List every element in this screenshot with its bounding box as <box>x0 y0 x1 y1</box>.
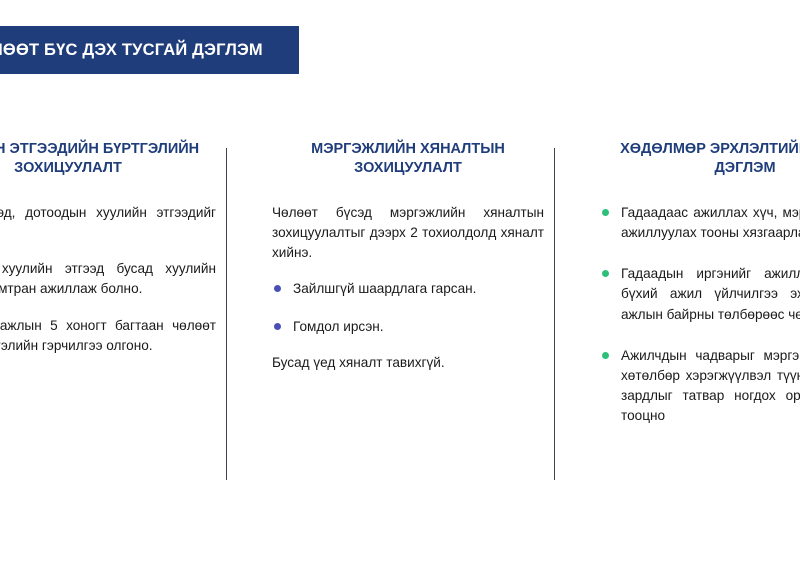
column-1-heading: ХУУЛИЙН ЭТГЭЭДИЙН БҮРТГЭЛИЙН ЗОХИЦУУЛАЛТ <box>0 140 216 177</box>
bullet-dot-icon <box>602 270 609 277</box>
slide-canvas: ХӨДӨЛМӨРИЙН ЧӨЛӨӨТ БҮС ДЭХ ТУСГАЙ ДЭГЛЭМ… <box>0 0 800 570</box>
column-2-bullet-list: Зайлшгүй шаардлага гарсан. Гомдол ирсэн. <box>272 279 544 336</box>
list-item: Гадаадын иргэнийг ажиллуулж орлого бүхий… <box>600 264 800 324</box>
column-entity-registration: ХУУЛИЙН ЭТГЭЭДИЙН БҮРТГЭЛИЙН ЗОХИЦУУЛАЛТ… <box>0 140 216 356</box>
column-2-closing-paragraph: Бусад үед хяналт тавихгүй. <box>272 353 544 373</box>
list-item-label: Зайлшгүй шаардлага гарсан. <box>293 281 476 296</box>
slide-title-banner: ХӨДӨЛМӨРИЙН ЧӨЛӨӨТ БҮС ДЭХ ТУСГАЙ ДЭГЛЭМ <box>0 26 299 74</box>
bullet-dot-icon <box>602 209 609 216</box>
column-employment-regime: ХӨДӨЛМӨР ЭРХЛЭЛТИЙН ТУСГАЙ ДЭГЛЭМ Гадаад… <box>600 140 800 447</box>
list-item: Ажилчдын чадварыг мэргэшүүлэх төсөл хөтө… <box>600 346 800 426</box>
bullet-dot-icon <box>274 323 281 330</box>
page-title: ХӨДӨЛМӨРИЙН ЧӨЛӨӨТ БҮС ДЭХ ТУСГАЙ ДЭГЛЭМ <box>0 41 263 59</box>
column-1-paragraph-1: Чөлөөт бүсэд, дотоодын хуулийн этгээдийг… <box>0 203 216 243</box>
columns-container: ХУУЛИЙН ЭТГЭЭДИЙН БҮРТГЭЛИЙН ЗОХИЦУУЛАЛТ… <box>0 140 800 500</box>
list-item-label: Гадаадаас ажиллах хүч, мэргэжилтэн авч а… <box>621 205 800 240</box>
list-item-label: Гадаадын иргэнийг ажиллуулж орлого бүхий… <box>621 266 800 321</box>
bullet-dot-icon <box>274 285 281 292</box>
list-item: Гадаадаас ажиллах хүч, мэргэжилтэн авч а… <box>600 203 800 243</box>
column-2-heading: МЭРГЭЖЛИЙН ХЯНАЛТЫН ЗОХИЦУУЛАЛТ <box>272 140 544 177</box>
list-item: Зайлшгүй шаардлага гарсан. <box>272 279 544 299</box>
bullet-dot-icon <box>602 352 609 359</box>
column-3-heading: ХӨДӨЛМӨР ЭРХЛЭЛТИЙН ТУСГАЙ ДЭГЛЭМ <box>600 140 800 177</box>
column-3-bullet-list: Гадаадаас ажиллах хүч, мэргэжилтэн авч а… <box>600 203 800 426</box>
column-1-paragraph-3: Бүртгэлийн ажлын 5 хоногт багтаан чөлөөт… <box>0 316 216 356</box>
column-1-paragraph-2: Бүртгэлтэй хуулийн этгээд бусад хуулийн … <box>0 259 216 299</box>
list-item-label: Гомдол ирсэн. <box>293 319 384 334</box>
column-2-intro-paragraph: Чөлөөт бүсэд мэргэжлийн хяналтын зохицуу… <box>272 203 544 263</box>
list-item-label: Ажилчдын чадварыг мэргэшүүлэх төсөл хөтө… <box>621 348 800 423</box>
column-professional-inspection: МЭРГЭЖЛИЙН ХЯНАЛТЫН ЗОХИЦУУЛАЛТ Чөлөөт б… <box>272 140 544 373</box>
list-item: Гомдол ирсэн. <box>272 317 544 337</box>
